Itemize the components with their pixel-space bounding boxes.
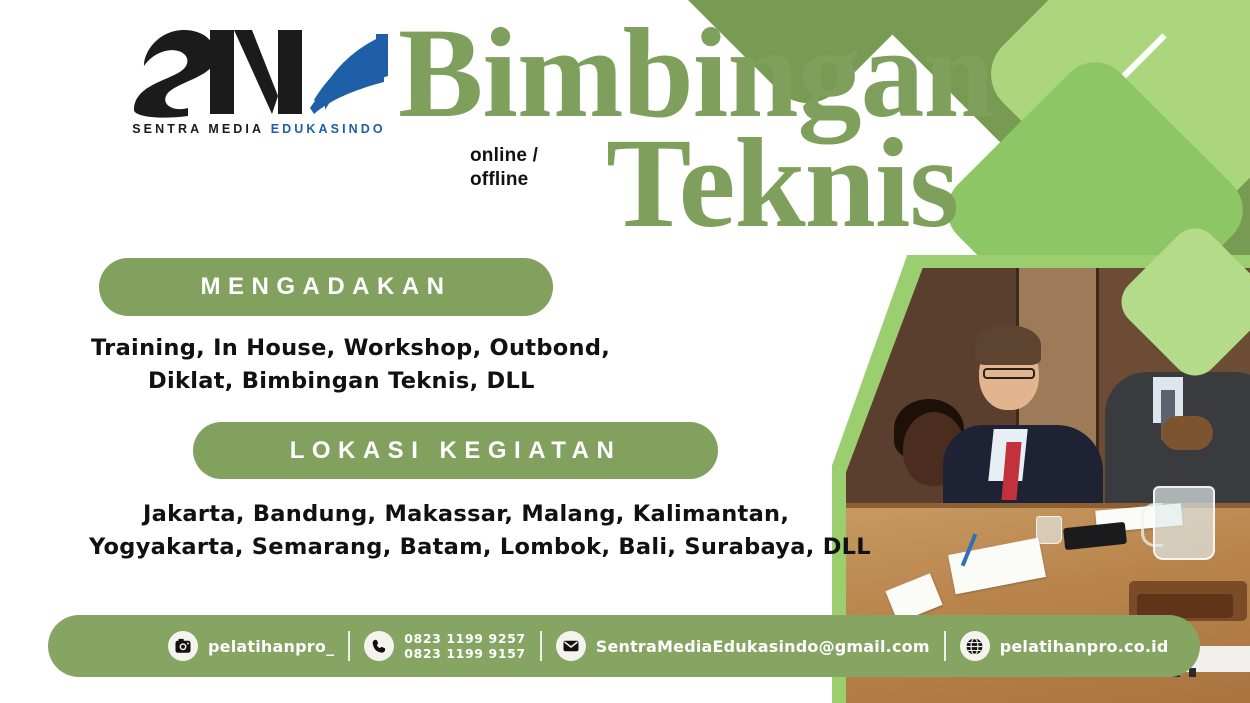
section-pill-mengadakan: MENGADAKAN xyxy=(99,258,553,316)
phone-number-1: 0823 1199 9257 xyxy=(404,631,525,646)
brand-name: SENTRA MEDIA EDUKASINDO xyxy=(126,122,392,136)
mode-line-1: online / xyxy=(470,144,538,168)
divider xyxy=(540,631,542,661)
website-url: pelatihanpro.co.id xyxy=(1000,637,1169,656)
delivery-mode-label: online / offline xyxy=(470,144,538,192)
locations-line-1: Jakarta, Bandung, Makassar, Malang, Kali… xyxy=(143,498,1250,531)
locations-line-2: Yogyakarta, Semarang, Batam, Lombok, Bal… xyxy=(89,531,1250,564)
contact-email[interactable]: SentraMediaEdukasindo@gmail.com xyxy=(556,631,930,661)
mode-line-2: offline xyxy=(470,168,538,192)
phone-numbers: 0823 1199 9257 0823 1199 9157 xyxy=(404,631,525,662)
services-line-1: Training, In House, Workshop, Outbond, xyxy=(91,332,1250,365)
contact-instagram[interactable]: pelatihanpro_ xyxy=(168,631,334,661)
contact-phone[interactable]: 0823 1199 9257 0823 1199 9157 xyxy=(364,631,525,662)
contact-website[interactable]: pelatihanpro.co.id xyxy=(960,631,1169,661)
section-pill-lokasi-kegiatan: LOKASI KEGIATAN xyxy=(193,422,718,479)
services-line-2: Diklat, Bimbingan Teknis, DLL xyxy=(148,365,1250,398)
divider xyxy=(348,631,350,661)
phone-icon xyxy=(364,631,394,661)
divider xyxy=(944,631,946,661)
instagram-handle: pelatihanpro_ xyxy=(208,637,334,656)
promotional-banner: SENTRA MEDIA EDUKASINDO Bimbingan Teknis… xyxy=(0,0,1250,703)
title-line-2: Teknis xyxy=(606,128,994,238)
contact-bar: pelatihanpro_ 0823 1199 9257 0823 1199 9… xyxy=(48,615,1200,677)
instagram-icon xyxy=(168,631,198,661)
locations-list: Jakarta, Bandung, Makassar, Malang, Kali… xyxy=(0,498,1250,565)
sm-book-logo-icon xyxy=(126,22,392,118)
email-address: SentraMediaEdukasindo@gmail.com xyxy=(596,637,930,656)
phone-number-2: 0823 1199 9157 xyxy=(404,646,525,661)
brand-name-part2: EDUKASINDO xyxy=(271,122,386,136)
email-icon xyxy=(556,631,586,661)
brand-name-part1: SENTRA MEDIA xyxy=(132,122,264,136)
globe-icon xyxy=(960,631,990,661)
brand-logo: SENTRA MEDIA EDUKASINDO xyxy=(126,22,392,146)
services-list: Training, In House, Workshop, Outbond, D… xyxy=(0,332,1250,397)
page-title: Bimbingan Teknis xyxy=(398,18,994,238)
